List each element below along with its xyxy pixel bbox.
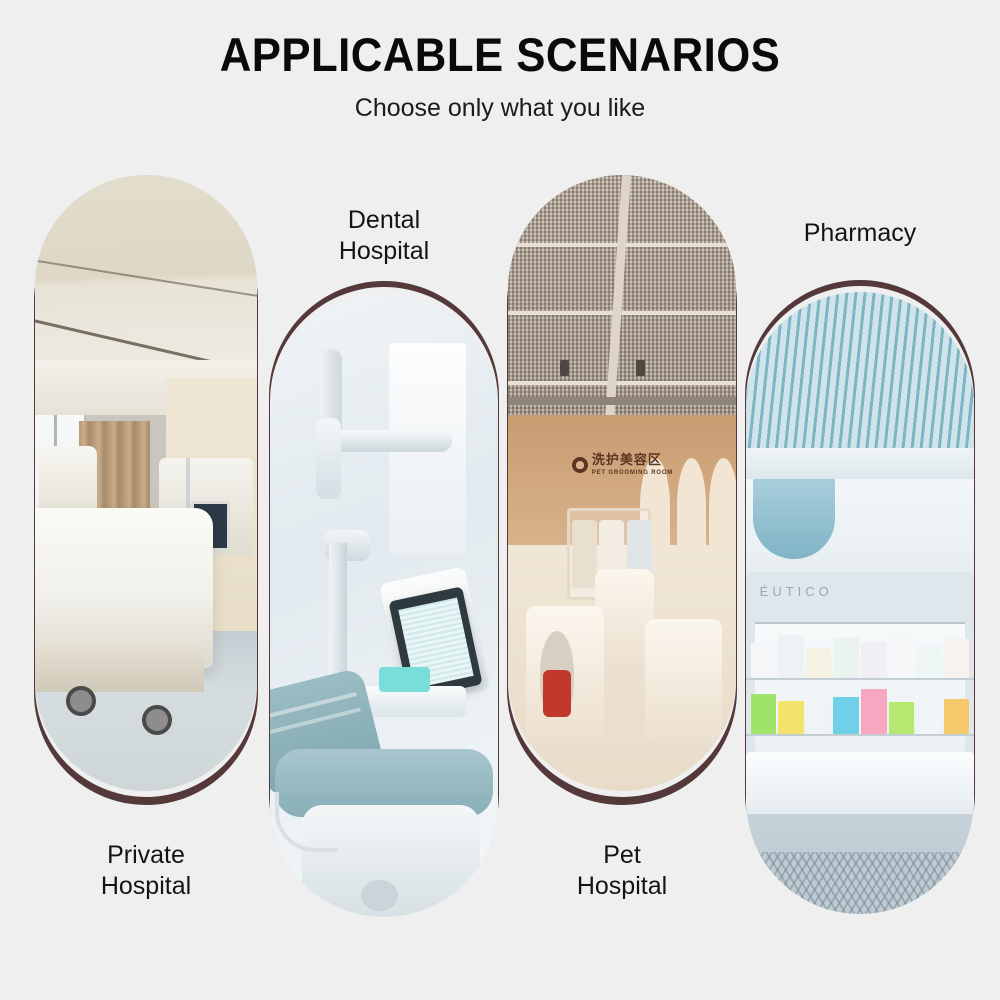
scenario-card-private-hospital[interactable]: Private Hospital [35,175,257,935]
photo-pet-hospital: 洗护美容区 PET GROOMING ROOM [508,175,736,791]
photo-pharmacy: ÉUTICO [746,292,974,914]
scenario-label-private-hospital: Private Hospital [35,840,257,903]
photo-dental-hospital [270,293,498,917]
scenario-card-dental-hospital[interactable]: Dental Hospital [270,205,498,917]
scenario-card-pet-hospital[interactable]: 洗护美容区 PET GROOMING ROOM Pet Hospital [508,175,736,935]
sign-text-chinese: 洗护美容区 [592,452,662,467]
scenario-image-frame-pharmacy[interactable]: ÉUTICO [746,292,974,914]
sign-text-english: PET GROOMING ROOM [592,470,673,476]
scenario-image-frame-private-hospital[interactable] [35,175,257,791]
scenario-label-pharmacy: Pharmacy [746,218,974,249]
dog-logo-icon [572,457,588,473]
scenario-image-frame-pet-hospital[interactable]: 洗护美容区 PET GROOMING ROOM [508,175,736,791]
scenario-label-dental-hospital: Dental Hospital [270,205,498,268]
photo-private-hospital [35,175,257,791]
pet-grooming-sign: 洗护美容区 PET GROOMING ROOM [572,443,704,486]
scenario-image-frame-dental-hospital[interactable] [270,293,498,917]
scenario-card-pharmacy[interactable]: Pharmacy ÉUTICO [746,218,974,918]
scenario-label-pet-hospital: Pet Hospital [508,840,736,903]
scenario-gallery: Private Hospital Dental Hospital [0,0,1000,1000]
pharmacy-sign-text: ÉUTICO [760,584,897,599]
